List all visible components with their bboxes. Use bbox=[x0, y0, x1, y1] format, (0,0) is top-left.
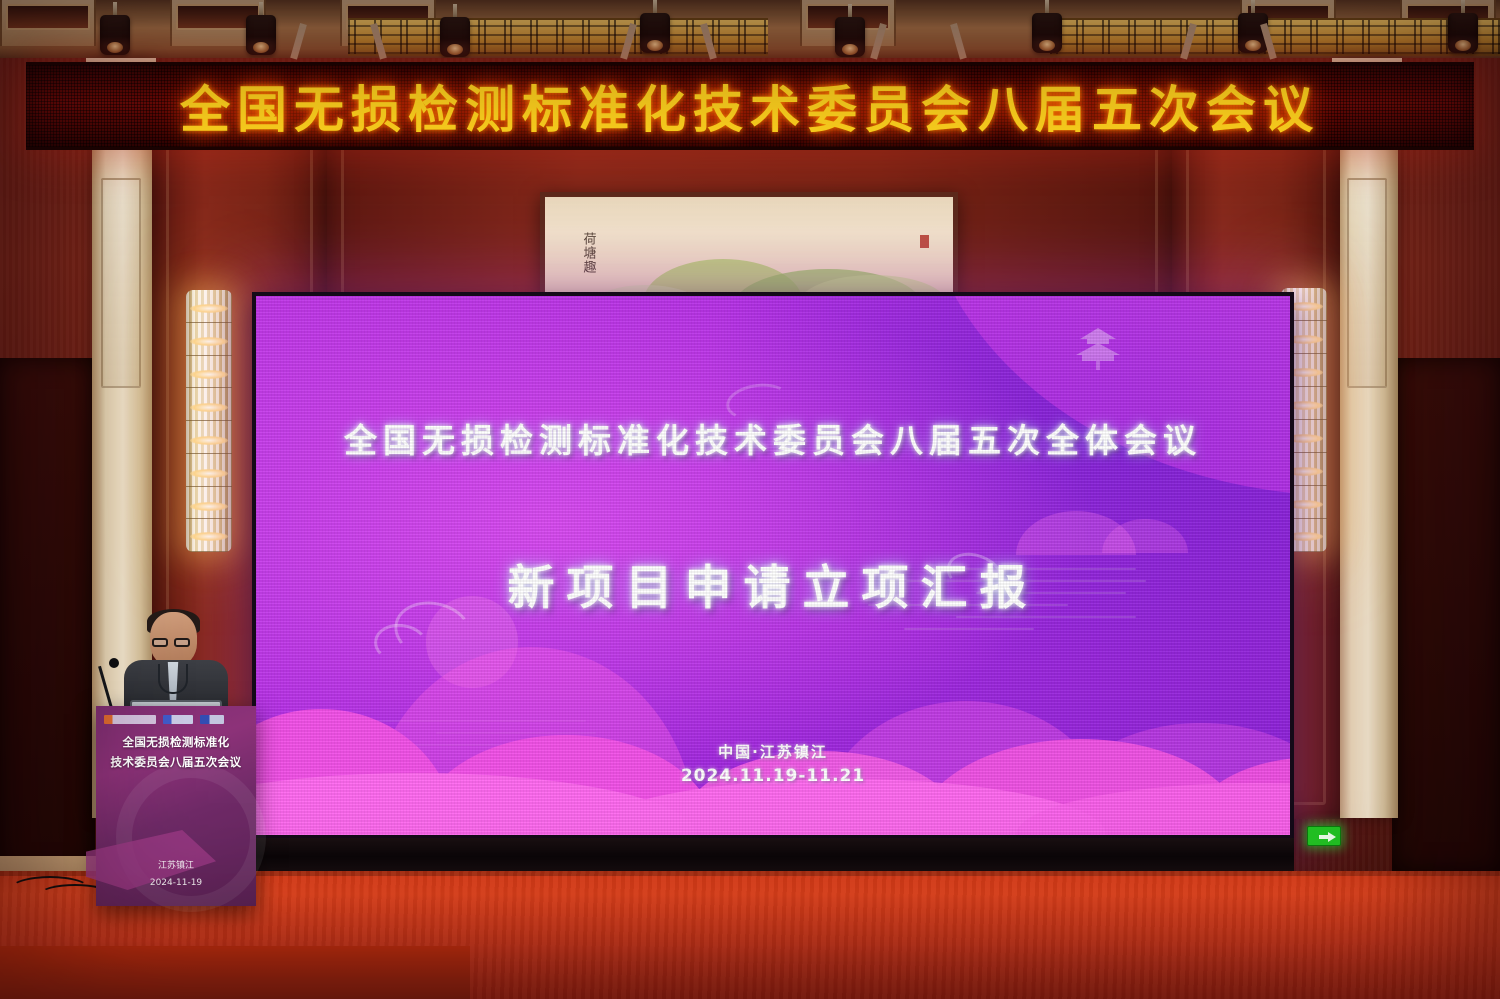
podium-title-line2: 技术委员会八届五次会议 bbox=[102, 752, 250, 772]
sponsor-logo-1 bbox=[104, 715, 156, 724]
stage-riser bbox=[0, 946, 470, 999]
pagoda-icon bbox=[1068, 326, 1128, 372]
stage-lamp-icon bbox=[640, 0, 670, 56]
stage-lamp-icon bbox=[1448, 0, 1478, 56]
glasses-icon bbox=[174, 638, 190, 647]
ceiling-lattice-right bbox=[1050, 18, 1500, 56]
led-banner-text: 全国无损检测标准化技术委员会八届五次会议 bbox=[180, 70, 1320, 142]
lanyard-icon bbox=[158, 664, 188, 694]
podium-date: 2024-11-19 bbox=[96, 875, 256, 892]
podium: 全国无损检测标准化 技术委员会八届五次会议 江苏镇江 2024-11-19 bbox=[96, 706, 256, 906]
screen-subtitle: 新项目申请立项汇报 bbox=[256, 549, 1290, 618]
screen-dates: 2024.11.19-11.21 bbox=[256, 766, 1290, 786]
doorway-right bbox=[1392, 358, 1500, 873]
stage-lamp-icon bbox=[835, 4, 865, 60]
led-presentation-screen[interactable]: 全国无损检测标准化技术委员会八届五次全体会议 新项目申请立项汇报 中国·江苏镇江… bbox=[252, 292, 1294, 839]
screen-support-truss bbox=[252, 838, 1294, 872]
screen-footer: 中国·江苏镇江 2024.11.19-11.21 bbox=[256, 741, 1290, 786]
glasses-icon bbox=[152, 638, 168, 647]
podium-sponsor-logos bbox=[104, 712, 248, 726]
podium-footer: 江苏镇江 2024-11-19 bbox=[96, 858, 256, 892]
podium-location: 江苏镇江 bbox=[96, 858, 256, 875]
sponsor-logo-2 bbox=[163, 715, 193, 724]
wall-painting: 荷塘趣 bbox=[540, 192, 958, 302]
sponsor-logo-3 bbox=[200, 715, 224, 724]
screen-surface: 全国无损检测标准化技术委员会八届五次全体会议 新项目申请立项汇报 中国·江苏镇江… bbox=[256, 296, 1290, 835]
microphone-icon bbox=[109, 658, 119, 668]
emergency-exit-sign bbox=[1307, 826, 1341, 846]
stage-lamp-icon bbox=[100, 2, 130, 58]
stage-lamp-icon bbox=[1032, 0, 1062, 56]
stage-lamp-icon bbox=[440, 4, 470, 60]
wall-pilaster-right bbox=[1338, 58, 1398, 818]
painting-calligraphy: 荷塘趣 bbox=[574, 232, 596, 274]
screen-location: 中国·江苏镇江 bbox=[256, 741, 1290, 762]
screen-title: 全国无损检测标准化技术委员会八届五次全体会议 bbox=[256, 414, 1290, 462]
led-banner: 全国无损检测标准化技术委员会八届五次会议 bbox=[26, 62, 1474, 150]
podium-title-line1: 全国无损检测标准化 bbox=[102, 732, 250, 752]
podium-title: 全国无损检测标准化 技术委员会八届五次会议 bbox=[102, 732, 250, 772]
stage-lamp-icon bbox=[246, 2, 276, 58]
presenter bbox=[120, 612, 230, 720]
doorway-left bbox=[0, 358, 95, 873]
conference-hall-scene: 荷塘趣 bbox=[0, 0, 1500, 999]
crystal-wall-sconce-left bbox=[186, 290, 232, 552]
painting-seal bbox=[920, 235, 929, 248]
